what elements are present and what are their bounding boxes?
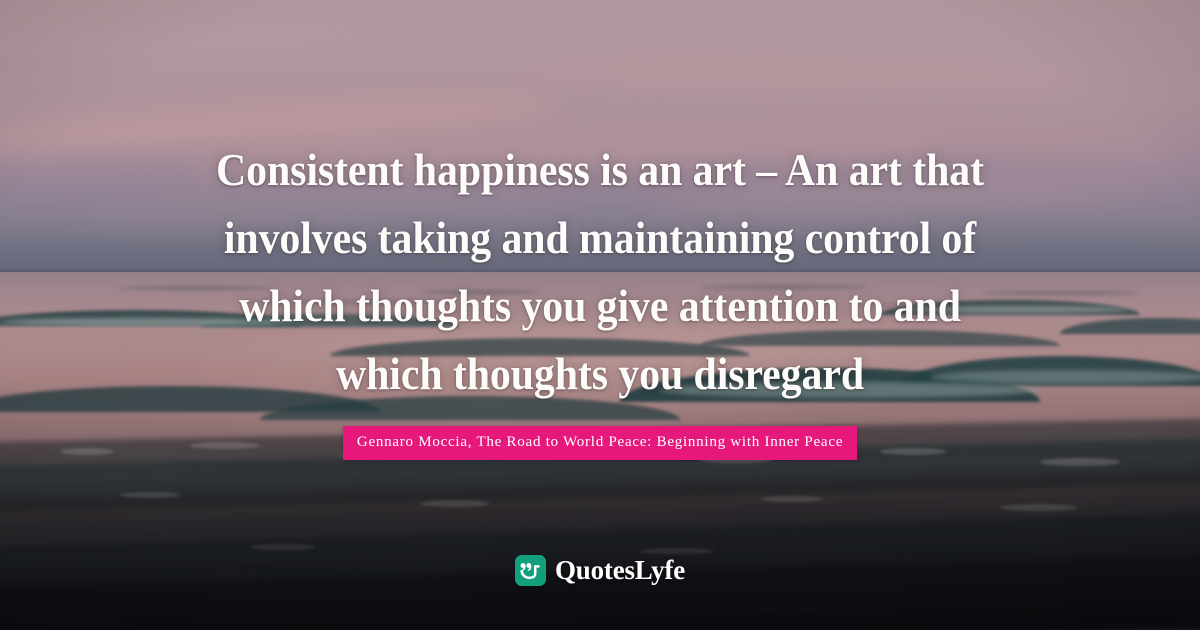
attribution-row: Gennaro Moccia, The Road to World Peace:… <box>343 426 857 460</box>
card-content: Consistent happiness is an art – An art … <box>0 0 1200 630</box>
quotation-marks-icon <box>515 555 546 586</box>
brand-logo[interactable]: QuotesLyfe <box>0 555 1200 586</box>
brand-name: QuotesLyfe <box>555 555 685 586</box>
quote-text: Consistent happiness is an art – An art … <box>182 136 1019 408</box>
quote-card: Consistent happiness is an art – An art … <box>0 0 1200 630</box>
attribution-label: Gennaro Moccia, The Road to World Peace:… <box>343 426 857 460</box>
